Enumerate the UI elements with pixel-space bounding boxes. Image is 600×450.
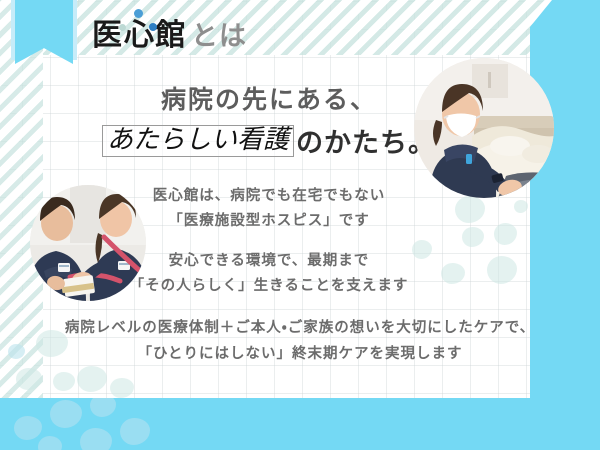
handwritten-highlight-box: あたらしい看護 (102, 125, 294, 157)
decor-blob (14, 416, 42, 440)
two-nurses-discussing-photo (30, 185, 146, 301)
title-dot-blue-dark-icon (149, 23, 157, 31)
body-paragraph-3: 病院レベルの医療体制＋ご本人・ご家族の想いを大切にしたケアで、 「ひとりにはしな… (0, 315, 600, 367)
body-line: 「ひとりにはしない」終末期ケアを実現します (16, 341, 584, 367)
page-title: 医 心 館 とは (92, 10, 247, 54)
ribbon-edge-left (11, 0, 15, 60)
decor-blob (38, 436, 62, 450)
nurse-with-patient-photo (414, 58, 554, 198)
title-kanji-kokoro: 心 (123, 10, 155, 54)
bottom-accent-bar (0, 398, 600, 450)
title-dot-blue-icon (134, 9, 143, 18)
title-suffix: とは (191, 14, 247, 53)
title-dot-teal-icon (119, 24, 126, 31)
decor-blob (50, 400, 82, 428)
body-line: 病院レベルの医療体制＋ご本人・ご家族の想いを大切にしたケアで、 (16, 315, 584, 341)
decor-blob (80, 428, 112, 450)
title-kanji-kan: 館 (155, 10, 186, 54)
decor-blob (120, 418, 150, 445)
ribbon-edge-right (73, 0, 77, 60)
decor-blob (90, 398, 116, 417)
diagonal-stripes-top (0, 0, 600, 55)
slide-canvas: 医 心 館 とは 病院の先にある、 あたらしい看護 のかたち。 医心館は、病院で… (0, 0, 600, 450)
handwritten-text: あたらしい看護 (107, 125, 289, 155)
title-kanji-i: 医 (92, 10, 123, 54)
